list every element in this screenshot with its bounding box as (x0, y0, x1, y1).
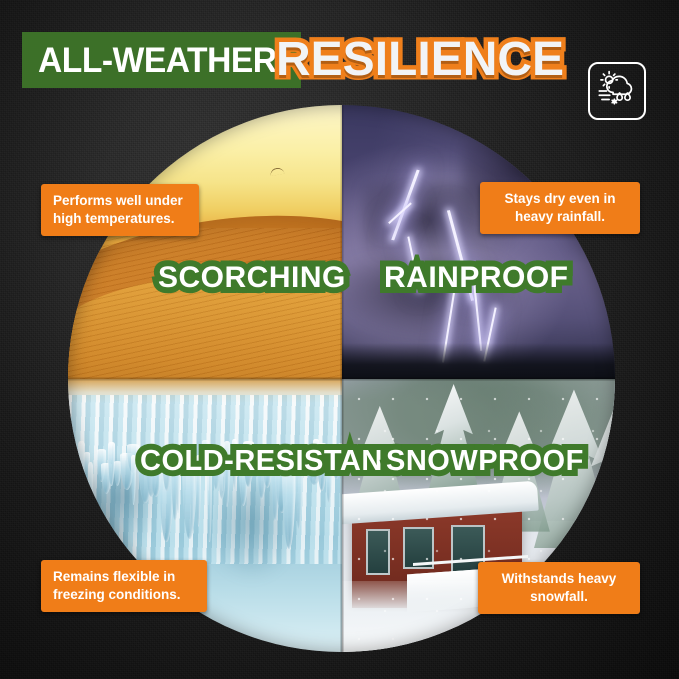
quadrant-seam-horizontal (68, 377, 615, 380)
header-banner: ALL-WEATHER RESILIENCE (0, 30, 679, 92)
icicle (131, 455, 136, 505)
quadrant-rainproof (342, 105, 616, 379)
callout-cold-resistant: Remains flexible in freezing conditions. (41, 560, 207, 612)
quadrant-scorching (68, 105, 342, 379)
label-cold-resistant: COLD-RESISTANT (140, 447, 401, 476)
callout-snowproof: Withstands heavy snowfall. (478, 562, 640, 614)
icicle (69, 453, 79, 540)
desert-scene (68, 105, 342, 379)
label-snowproof: SNOWPROOF (386, 447, 584, 476)
callout-rainproof: Stays dry even in heavy rainfall. (480, 182, 640, 234)
bird-silhouette-icon (270, 167, 285, 176)
header-orange-title: RESILIENCE (276, 26, 564, 94)
storm-treeline (342, 343, 616, 379)
thunderstorm-scene (342, 105, 616, 379)
icicle (88, 462, 94, 553)
label-scorching: SCORCHING (158, 263, 346, 293)
callout-scorching: Performs well under high temperatures. (41, 184, 199, 236)
header-green-banner: ALL-WEATHER (22, 32, 301, 88)
sand-ripples (68, 228, 342, 378)
label-rainproof: RAINPROOF (384, 263, 569, 293)
header-title-all-weather: ALL-WEATHER (38, 43, 277, 78)
header-title-resilience: RESILIENCE (276, 36, 564, 84)
